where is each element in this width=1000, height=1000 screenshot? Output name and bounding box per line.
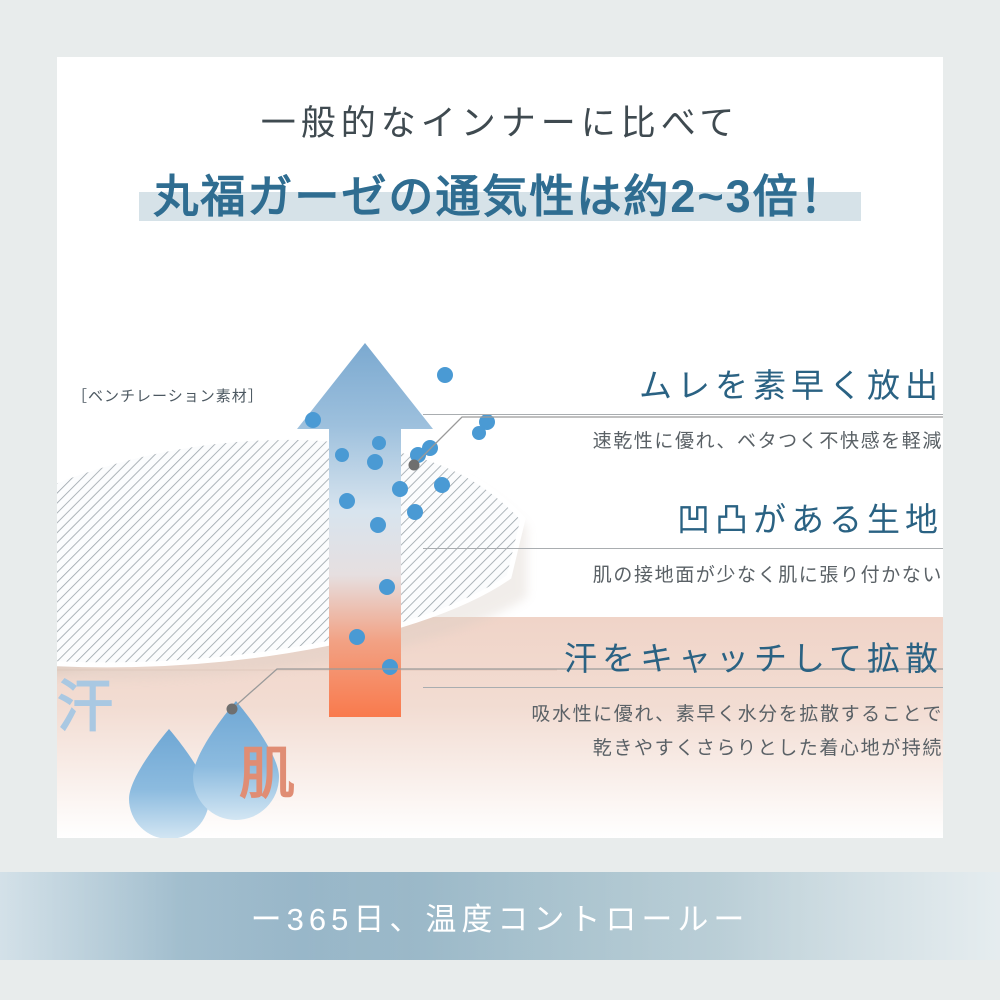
feature-title-1: 凹凸がある生地 <box>423 499 943 540</box>
feature-title-0: ムレを素早く放出 <box>423 365 943 406</box>
page-stage: 一般的なインナーに比べて 丸福ガーゼの通気性は約2~3倍！ ［ベンチレーション素… <box>0 0 1000 1000</box>
feature-title-2: 汗をキャッチして拡散 <box>423 638 943 679</box>
upward-airflow-arrow <box>297 343 433 717</box>
subheadline: 一般的なインナーに比べて <box>57 103 943 145</box>
feature-divider-1 <box>423 548 943 549</box>
feature-block-0: ムレを素早く放出 速乾性に優れ、ベタつく不快感を軽減 <box>423 365 943 459</box>
feature-divider-0 <box>423 414 943 415</box>
bottom-banner: ー365日、温度コントロールー <box>0 872 1000 960</box>
skin-label: 肌 <box>239 729 297 810</box>
feature-sub-0-line-0: 速乾性に優れ、ベタつく不快感を軽減 <box>423 425 943 458</box>
feature-sub-1-line-0: 肌の接地面が少なく肌に張り付かない <box>423 559 943 592</box>
ventilation-material-label: ［ベンチレーション素材］ <box>72 385 264 406</box>
headline-block: 一般的なインナーに比べて 丸福ガーゼの通気性は約2~3倍！ <box>57 103 943 223</box>
main-headline-row: 丸福ガーゼの通気性は約2~3倍！ <box>147 171 852 223</box>
feature-sub-2-line-0: 吸水性に優れ、素早く水分を拡散することで <box>423 698 943 731</box>
feature-block-1: 凹凸がある生地 肌の接地面が少なく肌に張り付かない <box>423 499 943 593</box>
bottom-banner-text: ー365日、温度コントロールー <box>251 894 750 939</box>
mesh-fabric-layer <box>57 501 347 685</box>
main-headline: 丸福ガーゼの通気性は約2~3倍！ <box>153 171 846 223</box>
callout-dots <box>227 460 420 715</box>
sweat-label: 汗 <box>57 662 115 743</box>
feature-divider-2 <box>423 687 943 688</box>
mesh-airflow-arrows <box>75 485 319 641</box>
feature-sub-2-line-1: 乾きやすくさらりとした着心地が持続 <box>423 732 943 765</box>
infographic-card: 一般的なインナーに比べて 丸福ガーゼの通気性は約2~3倍！ ［ベンチレーション素… <box>57 57 943 838</box>
feature-block-2: 汗をキャッチして拡散 吸水性に優れ、素早く水分を拡散することで 乾きやすくさらり… <box>423 638 943 765</box>
